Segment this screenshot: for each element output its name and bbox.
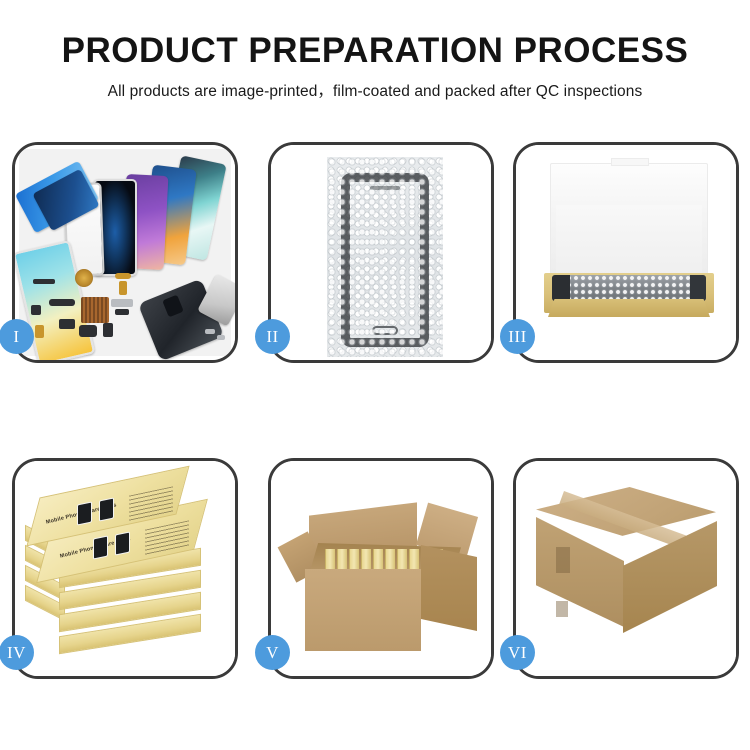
sealed-carton-photo (516, 461, 736, 676)
stacked-retail-boxes-photo: Mobile Phone Spare Parts Mobile Phone Sp… (15, 461, 235, 676)
sim-tray-icon (33, 279, 55, 284)
phone-spare-parts-photo (19, 149, 231, 356)
carton-seam-lower-icon (556, 601, 568, 617)
vibration-motor-icon (59, 319, 75, 329)
step-badge-3: III (500, 319, 535, 354)
button-module-icon (31, 305, 41, 315)
charging-port-icon (35, 325, 44, 338)
wrapped-screen-in-tray-icon (552, 275, 706, 301)
header: PRODUCT PREPARATION PROCESS All products… (0, 33, 750, 101)
process-step-panel-5[interactable]: V (268, 458, 494, 679)
carton-seam-upper-icon (556, 547, 570, 573)
bubble-wrap-sheet-icon (327, 157, 443, 357)
retail-box-thumb-1a (77, 501, 92, 525)
process-step-panel-4[interactable]: Mobile Phone Spare Parts Mobile Phone Sp… (12, 458, 238, 679)
open-carton-photo (271, 461, 491, 676)
step-badge-1: I (0, 319, 34, 354)
carton-left-face-icon (536, 517, 624, 627)
retail-box-thumb-2b (115, 531, 130, 555)
process-step-panel-2[interactable]: II (268, 142, 494, 363)
flex-cable-gold-icon (115, 273, 131, 279)
shield-plate-icon (111, 299, 133, 307)
product-preparation-infographic: PRODUCT PREPARATION PROCESS All products… (0, 0, 750, 750)
panel-5-image-clip (271, 461, 491, 676)
step-badge-4: IV (0, 635, 34, 670)
page-subtitle: All products are image-printed，film-coat… (0, 79, 750, 101)
flex-cable-icon (49, 299, 75, 306)
page-title: PRODUCT PREPARATION PROCESS (0, 33, 750, 70)
kraft-tray-front-icon (548, 299, 710, 317)
step-badge-2: II (255, 319, 290, 354)
screen-edge-right-icon (690, 275, 706, 301)
panel-6-image-clip (516, 461, 736, 676)
process-step-panel-1[interactable]: I (12, 142, 238, 363)
battery-connector-icon (103, 323, 113, 337)
chip-grid-icon (81, 297, 109, 323)
speaker-coil-icon (75, 269, 93, 287)
bubble-wrap-overlay-icon (327, 157, 443, 357)
process-step-panel-3[interactable]: III (513, 142, 739, 363)
process-steps-grid: I II (12, 142, 739, 683)
retail-box-thumb-1b (99, 497, 114, 521)
screw-set-2-icon (217, 335, 225, 340)
panel-1-image-clip (15, 145, 235, 360)
carton-side-panel-icon (421, 545, 477, 631)
panel-3-image-clip (516, 145, 736, 360)
foam-lid-tab-icon (611, 158, 649, 166)
earpiece-icon (79, 325, 97, 337)
step-badge-5: V (255, 635, 290, 670)
screen-edge-left-icon (552, 275, 570, 301)
carton-front-panel-icon (305, 569, 421, 651)
bubble-wrapped-screen-photo (271, 145, 491, 360)
antenna-flex-icon (115, 309, 129, 315)
panel-2-image-clip (271, 145, 491, 360)
screw-set-icon (205, 329, 215, 334)
connector-gold-icon (119, 281, 127, 295)
step-badge-6: VI (500, 635, 535, 670)
retail-box-thumb-2a (93, 535, 108, 559)
foam-insert-icon (556, 205, 702, 275)
process-step-panel-6[interactable]: VI (513, 458, 739, 679)
screen-in-foam-box-photo (516, 145, 736, 360)
panel-4-image-clip: Mobile Phone Spare Parts Mobile Phone Sp… (15, 461, 235, 676)
